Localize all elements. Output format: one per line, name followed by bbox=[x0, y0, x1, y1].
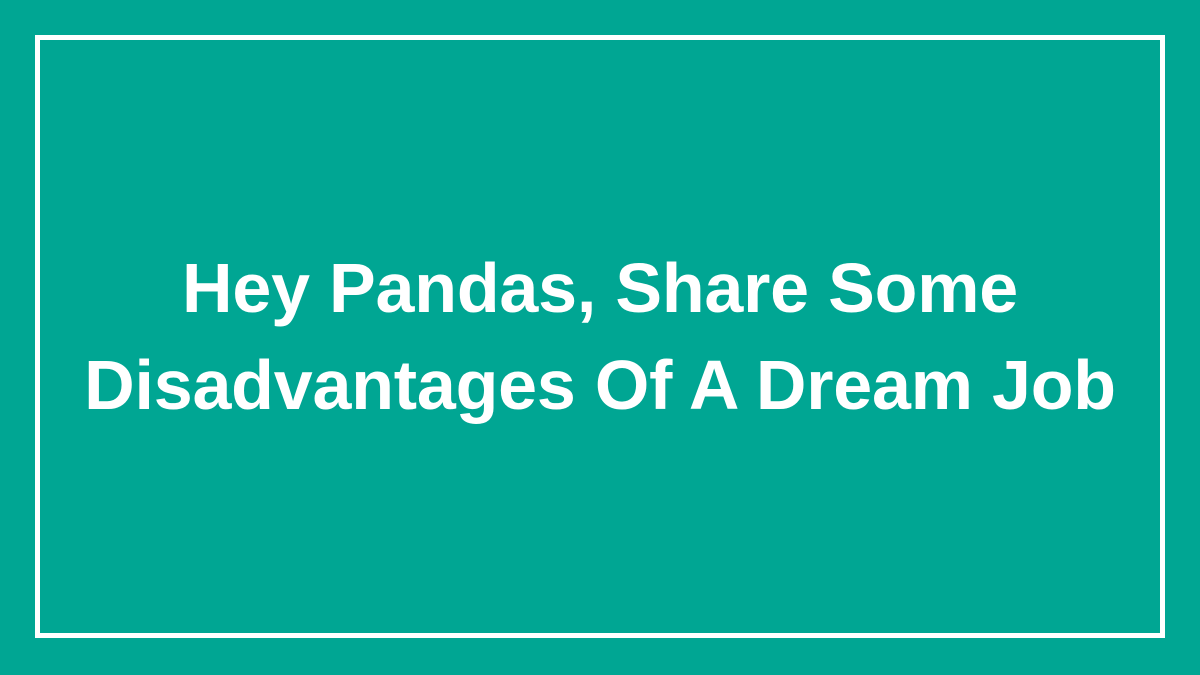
headline-block: Hey Pandas, Share Some Disadvantages Of … bbox=[35, 35, 1165, 638]
poster-canvas: Hey Pandas, Share Some Disadvantages Of … bbox=[0, 0, 1200, 675]
page-title: Hey Pandas, Share Some Disadvantages Of … bbox=[84, 240, 1116, 434]
headline-line-2: Disadvantages Of A Dream Job bbox=[84, 337, 1116, 434]
headline-line-1: Hey Pandas, Share Some bbox=[84, 240, 1116, 337]
